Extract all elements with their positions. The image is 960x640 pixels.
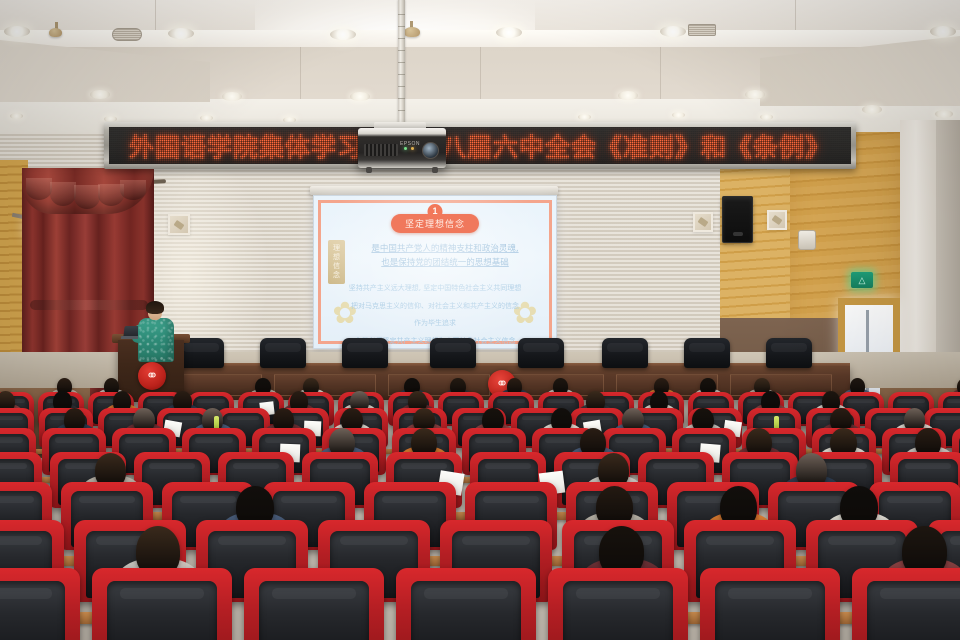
downlight-icon [350,92,370,101]
dais-chair [684,338,730,368]
wall-decor-square [693,212,713,232]
emergency-light-icon [798,230,816,250]
auditorium-seat[interactable] [852,568,960,640]
ceiling-seam [795,0,796,30]
led-banner: 外国语学院集体学习党的十八届六中全会《准则》和《条例》 [104,122,856,169]
slide-number-badge: 1 [428,204,443,219]
sprinkler-icon [404,27,420,37]
exit-sign-glyph: △ [851,272,873,288]
downlight-icon [168,28,194,39]
auditorium-seat[interactable] [396,568,536,640]
projector-mount-pole [398,0,405,125]
downlight-icon [90,90,110,99]
downlight-icon [760,114,773,120]
presenter-hair [146,301,164,314]
downlight-icon [745,90,765,99]
podium-university-logo: ⚭ [138,362,166,390]
downlight-icon [330,29,356,40]
ceiling-seam [660,47,661,99]
projector-brand: EPSON [400,141,420,147]
ceiling-seam [300,47,301,99]
led-banner-text: 外国语学院集体学习党的十八届六中全会《准则》和《条例》 [109,128,851,164]
sprinkler-icon [49,28,62,37]
downlight-icon [578,114,591,120]
downlight-icon [4,26,30,37]
downlight-icon [222,92,242,101]
ceiling-soffit-band [0,30,960,47]
wall-decor-square [168,214,190,235]
ceiling-skylight-glow [255,0,535,30]
downlight-icon [930,26,956,37]
projector-lens-icon [422,142,439,159]
auditorium-seat[interactable] [548,568,688,640]
downlight-icon [660,26,686,37]
led-panel: 外国语学院集体学习党的十八届六中全会《准则》和《条例》 [109,127,851,164]
ceiling [0,0,960,132]
wall-speaker-right [722,196,753,243]
ceiling-vent-icon [112,28,142,41]
auditorium-photo: △ 外国语学院集体学习党的十八届六中全会《准则》和《条例》 [0,0,960,640]
auditorium-seat[interactable] [244,568,384,640]
downlight-icon [200,115,213,121]
downlight-icon [862,105,882,114]
downlight-icon [496,27,522,38]
projection-screen: 1 坚定理想信念 理想信念 是中国共产党人的精神支柱和政治灵魂, 也是保持党的团… [313,195,557,349]
dais-chair [602,338,648,368]
ceiling-projector: EPSON [358,128,446,168]
podium-logo-mark: ⚭ [146,369,159,384]
dais-chair [342,338,388,368]
ceiling-seam [480,47,481,99]
screen-housing [310,186,558,195]
exit-sign-icon: △ [851,272,873,288]
auditorium-seat[interactable] [92,568,232,640]
ceiling-vent-icon [688,24,716,36]
downlight-icon [672,112,685,118]
dais-chair [260,338,306,368]
auditorium-seat[interactable] [700,568,840,640]
dais-chair [518,338,564,368]
dais-chair [430,338,476,368]
ceiling-seam [155,0,156,30]
curtain-tieback [30,300,148,310]
dais-chair [766,338,812,368]
downlight-icon [935,110,953,118]
wall-decor-square [767,210,787,230]
downlight-icon [618,91,638,100]
downlight-icon [10,113,23,119]
presenter-torso [138,318,174,362]
auditorium-seat[interactable] [0,568,80,640]
